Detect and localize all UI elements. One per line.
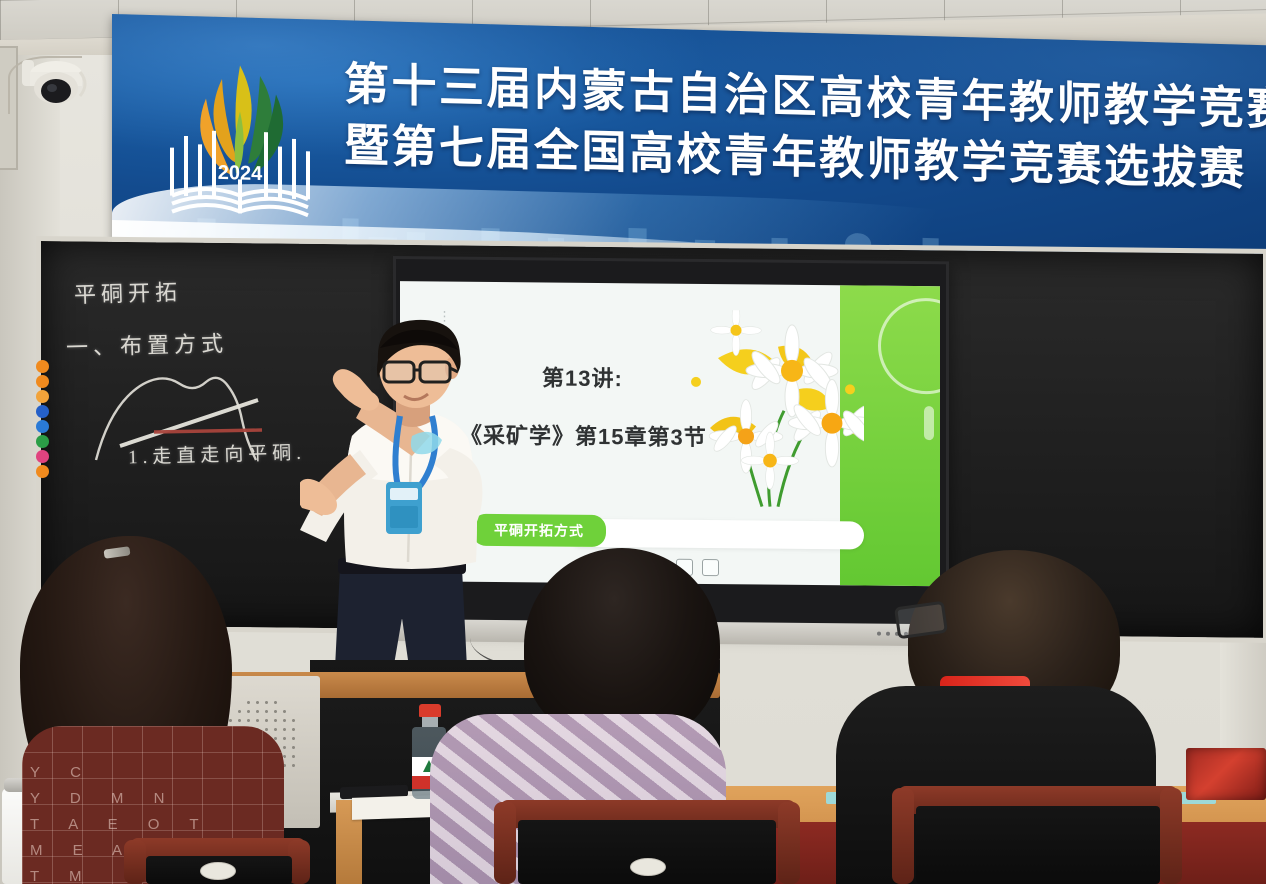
red-bag-on-desk[interactable] [1186,748,1266,800]
screenshot-root: 2024 第十三届内蒙古自治区高校青年教师教学竞赛 暨第七届全国高校青年教师教学… [0,0,1266,884]
chair-side-post [1160,788,1182,884]
chair-side-post [892,788,914,884]
blackboard-title: 平硐开拓 [74,275,183,310]
bottle-cap [419,704,441,717]
magnet-icon[interactable] [36,405,49,418]
magnet-icon[interactable] [36,420,49,433]
chair-side-post [494,802,516,884]
slide-chip-decoration [924,406,934,440]
chair-backrest [916,806,1160,884]
chair-badge [630,858,666,876]
slide-title: 第13讲: [542,360,623,393]
magnet-icon[interactable] [36,390,49,403]
screen-icon[interactable] [702,559,719,576]
magnet-icon[interactable] [36,465,49,478]
magnet-icon[interactable] [36,360,49,373]
magnet-icon[interactable] [36,435,49,448]
dome-camera-icon [18,58,96,120]
event-logo-icon: 2024 [156,51,324,226]
bottle-neck [422,717,438,727]
chair-side-post [778,802,800,884]
logo-year: 2024 [218,162,263,185]
banner-text-block: 第十三届内蒙古自治区高校青年教师教学竞赛 暨第七届全国高校青年教师教学竞赛选拔赛 [344,54,1254,201]
magnet-icon[interactable] [36,375,49,388]
blackboard-mountain-diagram [92,352,322,462]
slide-ring-decoration [878,298,940,395]
chair-side-post [124,840,146,884]
slide-content-bar [568,519,864,550]
blackboard-magnets[interactable] [36,360,52,480]
magnet-icon[interactable] [36,450,49,463]
slide-daisy-illustration [674,310,864,512]
teacher-figure [300,318,536,688]
chair-badge [200,862,236,880]
